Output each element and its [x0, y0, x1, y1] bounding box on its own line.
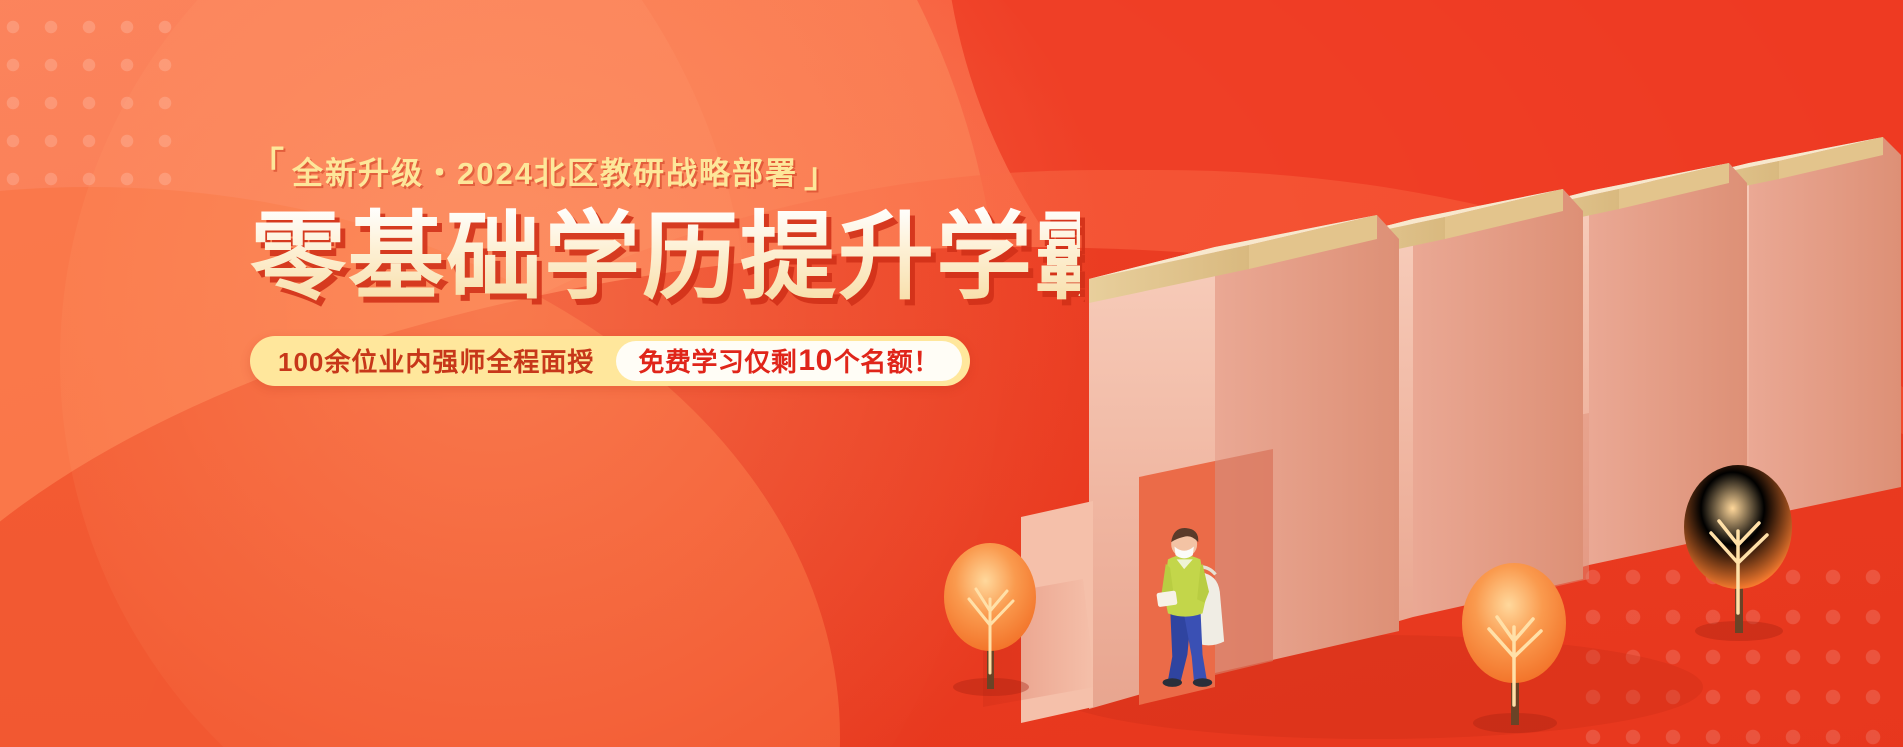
banner-highlight-pill[interactable]: 100余位业内强师全程面授 免费学习仅剩10个名额！ [250, 336, 970, 386]
banner-copy: 「 全新升级・2024北区教研战略部署 」 零基础学历提升学霸班 100余位业内… [250, 148, 1080, 386]
promo-banner: 「 全新升级・2024北区教研战略部署 」 零基础学历提升学霸班 100余位业内… [0, 0, 1903, 747]
close-bracket-icon: 」 [804, 159, 840, 193]
pill-right-number: 10 [797, 344, 833, 378]
banner-subtitle: 「 全新升级・2024北区教研战略部署 」 [250, 148, 1080, 192]
banner-subtitle-text: 全新升级・2024北区教研战略部署 [290, 148, 800, 193]
pill-left-label: 100余位业内强师全程面授 [250, 342, 616, 379]
pill-right-badge: 免费学习仅剩10个名额！ [616, 341, 961, 381]
banner-headline: 零基础学历提升学霸班 [250, 206, 1080, 310]
pill-right-prefix: 免费学习仅剩 [638, 342, 797, 379]
open-bracket-icon: 「 [250, 148, 286, 182]
pill-right-suffix: 个名额！ [834, 342, 940, 379]
